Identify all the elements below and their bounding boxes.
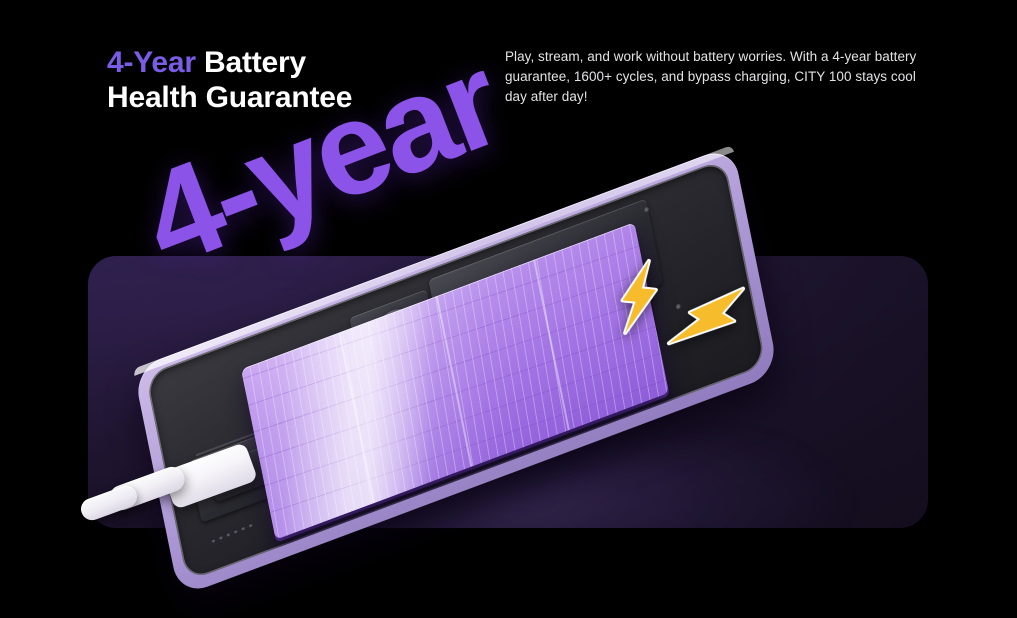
headline-accent: 4-Year (107, 46, 196, 79)
headline-rest-line1: Battery (196, 46, 306, 79)
body-paragraph: Play, stream, and work without battery w… (505, 47, 917, 107)
usb-c-cable (84, 448, 274, 526)
lightning-bolt-icon (663, 285, 749, 348)
promo-banner: 4-Year Battery Health Guarantee Play, st… (0, 0, 1017, 572)
usb-c-cord (78, 483, 140, 524)
screw (644, 206, 650, 213)
lightning-bolt-icon (611, 256, 665, 338)
